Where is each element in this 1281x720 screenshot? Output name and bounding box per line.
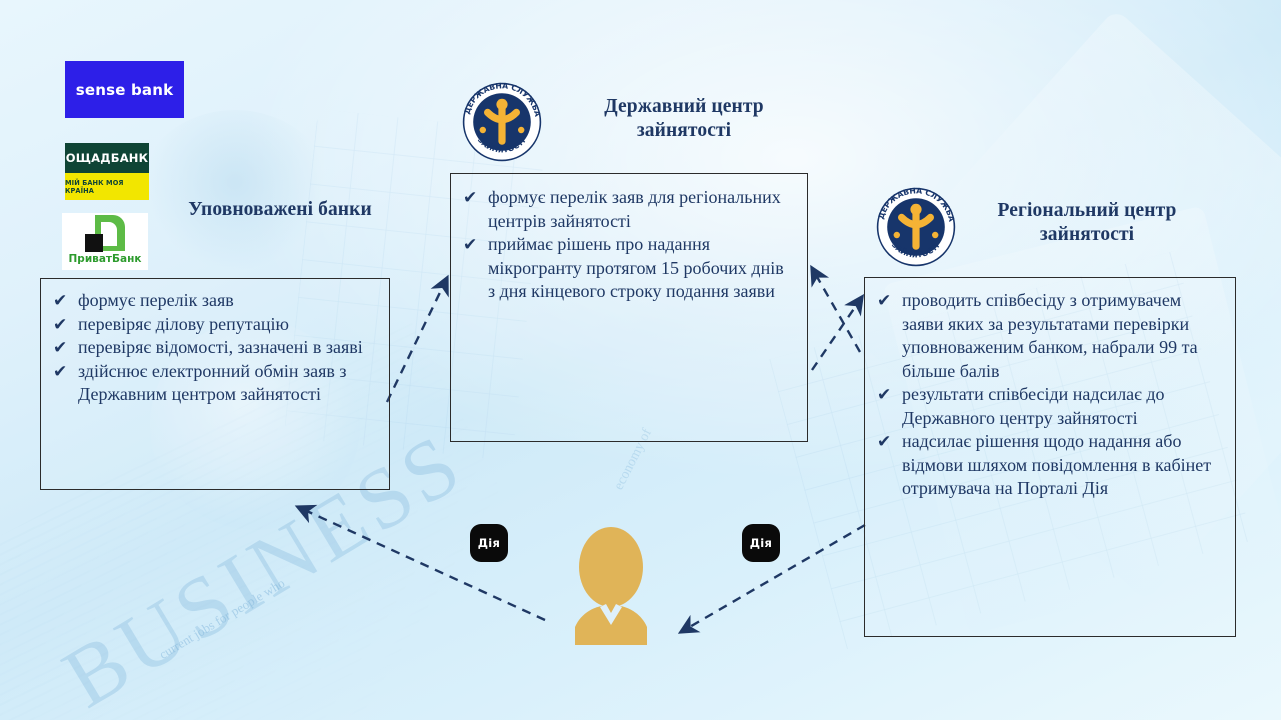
- check-icon: ✔: [877, 431, 891, 455]
- list-item: ✔результати співбесіди надсилає до Держа…: [875, 383, 1223, 430]
- diia-badge-left-label: Дія: [478, 536, 500, 550]
- list-item-text: формує перелік заяв для регіональних цен…: [488, 187, 781, 231]
- list-item-text: перевіряє ділову репутацію: [78, 314, 289, 334]
- list-item: ✔перевіряє відомості, зазначені в заяві: [51, 336, 377, 360]
- arrow-state-to-regional: [812, 297, 862, 370]
- privatbank-logo-text: ПриватБанк: [69, 253, 142, 265]
- arrow-regional-to-state: [812, 268, 860, 352]
- regional-center-list: ✔проводить співбесіду з отримувачем заяв…: [875, 289, 1223, 501]
- list-item: ✔формує перелік заяв: [51, 289, 377, 313]
- list-item: ✔перевіряє ділову репутацію: [51, 313, 377, 337]
- diia-badge-right-label: Дія: [750, 536, 772, 550]
- check-icon: ✔: [463, 234, 477, 258]
- newspaper-text-line-1: current jobs for people who: [156, 574, 288, 663]
- banks-info-box: ✔формує перелік заяв ✔перевіряє ділову р…: [40, 278, 390, 490]
- list-item-text: перевіряє відомості, зазначені в заяві: [78, 337, 363, 357]
- list-item-text: результати співбесіди надсилає до Держав…: [902, 384, 1165, 428]
- list-item: ✔здійснює електронний обмін заяв з Держа…: [51, 360, 377, 407]
- sense-bank-logo-text: sense bank: [76, 81, 174, 99]
- privatbank-logo: ПриватБанк: [62, 213, 148, 270]
- applicant-person-icon: [547, 527, 675, 645]
- regional-center-heading: Регіональний центр зайнятості: [978, 199, 1196, 247]
- arrow-banks-to-state: [387, 278, 447, 402]
- check-icon: ✔: [463, 187, 477, 211]
- check-icon: ✔: [53, 314, 67, 338]
- diia-badge-right[interactable]: Дія: [742, 524, 780, 562]
- oschadbank-logo-top: ОЩАДБАНК: [65, 143, 149, 173]
- list-item: ✔проводить співбесіду з отримувачем заяв…: [875, 289, 1223, 383]
- oschadbank-logo-bottom: МІЙ БАНК МОЯ КРАЇНА: [65, 173, 149, 200]
- oschadbank-logo-slogan: МІЙ БАНК МОЯ КРАЇНА: [65, 179, 149, 195]
- state-center-heading: Державний центр зайнятості: [578, 95, 790, 143]
- state-center-list: ✔формує перелік заяв для регіональних це…: [461, 186, 793, 304]
- banks-list: ✔формує перелік заяв ✔перевіряє ділову р…: [51, 289, 377, 407]
- check-icon: ✔: [53, 361, 67, 385]
- state-center-info-box: ✔формує перелік заяв для регіональних це…: [450, 173, 808, 442]
- check-icon: ✔: [877, 384, 891, 408]
- state-employment-service-emblem: ДЕРЖАВНА СЛУЖБА ЗАЙНЯТОСТІ: [462, 82, 542, 162]
- list-item-text: надсилає рішення щодо надання або відмов…: [902, 431, 1211, 498]
- list-item: ✔приймає рішень про надання мікрогранту …: [461, 233, 793, 304]
- banks-heading: Уповноважені банки: [152, 198, 408, 222]
- privatbank-mark-icon: [79, 215, 131, 253]
- list-item-text: приймає рішень про надання мікрогранту п…: [488, 234, 784, 301]
- oschadbank-logo-name: ОЩАДБАНК: [66, 151, 148, 165]
- check-icon: ✔: [53, 290, 67, 314]
- list-item-text: формує перелік заяв: [78, 290, 234, 310]
- oschadbank-logo: ОЩАДБАНК МІЙ БАНК МОЯ КРАЇНА: [65, 143, 149, 200]
- list-item: ✔формує перелік заяв для регіональних це…: [461, 186, 793, 233]
- list-item-text: здійснює електронний обмін заяв з Держав…: [78, 361, 346, 405]
- regional-center-info-box: ✔проводить співбесіду з отримувачем заяв…: [864, 277, 1236, 637]
- arrow-person-to-banks: [298, 507, 545, 620]
- regional-employment-service-emblem: ДЕРЖАВНА СЛУЖБА ЗАЙНЯТОСТІ: [876, 187, 956, 267]
- diia-badge-left[interactable]: Дія: [470, 524, 508, 562]
- plant-watermark: [140, 110, 330, 270]
- check-icon: ✔: [53, 337, 67, 361]
- list-item-text: проводить співбесіду з отримувачем заяви…: [902, 290, 1198, 381]
- check-icon: ✔: [877, 290, 891, 314]
- list-item: ✔надсилає рішення щодо надання або відмо…: [875, 430, 1223, 501]
- sense-bank-logo: sense bank: [65, 61, 184, 118]
